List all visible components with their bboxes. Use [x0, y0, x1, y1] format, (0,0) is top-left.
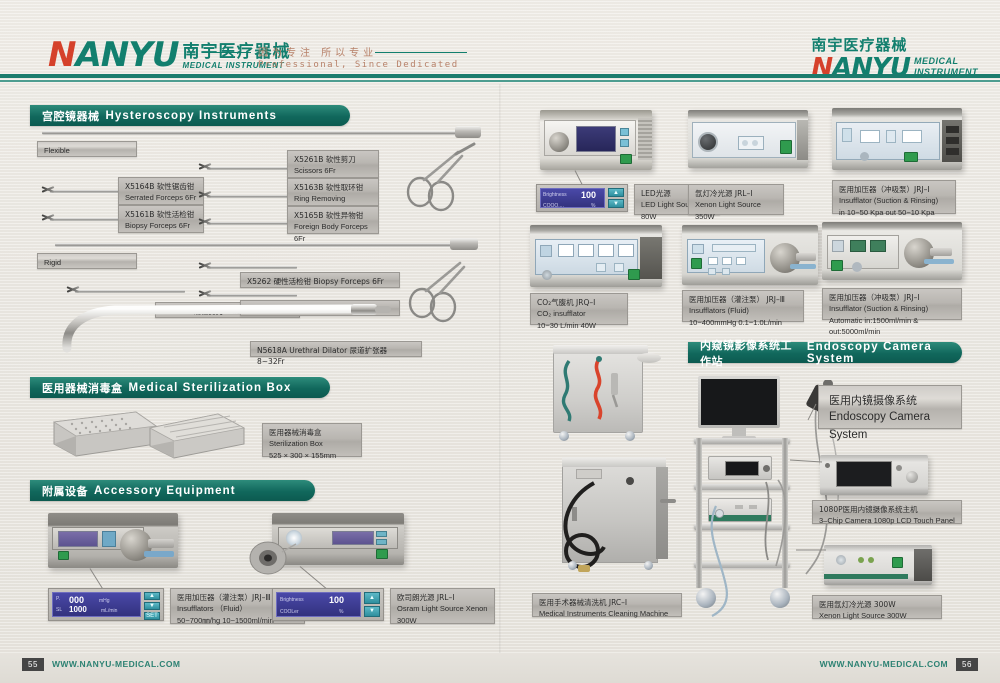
instrument-shaft-scissors	[207, 167, 289, 170]
ring-forceps-graphic-bottom	[400, 255, 480, 325]
banner-hysteroscopy-cn: 宫腔镜器械	[42, 108, 100, 124]
banner-camera-system-en: Endoscopy Camera System	[807, 341, 962, 365]
device-cleaning-machine	[552, 455, 680, 575]
label-x5261b-cn: X5261B 软性剪刀	[294, 154, 372, 165]
instrument-shaft-foreign	[207, 222, 289, 225]
label-x5164b-cn: X5164B 软性锯齿钳	[125, 181, 197, 192]
label-sterilization-box-size: 525 × 300 × 155mm	[269, 450, 355, 461]
label-insufflator-suction-1-spec: in 10~50 Kpa out 50~10 Kpa	[839, 207, 949, 218]
group-label-flexible-text: Flexible	[44, 145, 130, 156]
lcd-label-brightness-led: Brightness	[543, 192, 567, 198]
footer-url-right[interactable]: WWW.NANYU-MEDICAL.COM	[820, 659, 948, 669]
key-down-led[interactable]: ▼	[608, 199, 624, 208]
label-insufflator-suction-1-en: Insufflator (Suction & Rinsing)	[839, 195, 949, 206]
banner-accessory: 附属设备 Accessory Equipment	[30, 480, 315, 501]
lcd-unit-sl: mL/min	[101, 608, 117, 614]
light-guide-port-graphic	[248, 540, 298, 576]
key-up-osram[interactable]: ▲	[364, 592, 380, 604]
label-cleaning-machine: 医用手术器械清洗机 JRC–Ⅰ Medical Instruments Clea…	[532, 593, 682, 617]
device-led-light-source	[540, 110, 652, 170]
cleaning-machine-hose	[552, 481, 632, 575]
banner-sterilization: 医用器械消毒盒 Medical Sterilization Box	[30, 377, 330, 398]
readout-insufflator-fluid: P. 000 mHg SL 1000 mL/min ▲ ▼ SET	[48, 588, 164, 621]
label-osram-cn: 欧司朗光源 JRL–Ⅰ	[397, 592, 488, 603]
label-co2-en: CO₂ insufflator	[537, 308, 621, 319]
label-x5262-text: X5262 硬性活检钳 Biopsy Forceps 6Fr	[247, 276, 393, 287]
slogan-rule-right	[375, 52, 467, 53]
header-divider-thick	[0, 74, 1000, 78]
lcd-value-sl: 1000	[69, 605, 87, 614]
label-insufflator-fluid-right-spec: 10~400mmHg 0.1~1.0L/min	[689, 317, 797, 328]
label-insufflator-suction-1-cn: 医用加压器（冲吸泵）JRJ–Ⅰ	[839, 184, 949, 195]
instrument-shaft-rigid-biopsy1	[207, 266, 297, 269]
lcd-value-brightness-osram: 100	[329, 595, 344, 605]
logo-right-chinese: 南宇医疗器械	[811, 34, 978, 55]
lcd-label-cooler-osram: COOLer	[280, 609, 299, 615]
label-xenon: 氙灯冷光源 JRL–Ⅰ Xenon Light Source 350W	[688, 184, 784, 215]
readout-keys-insufflator-fluid[interactable]: ▲ ▼ SET	[144, 592, 160, 617]
label-insufflator-fluid-right-cn: 医用加压器（灌注泵） JRJ–Ⅲ	[689, 294, 797, 305]
ring-forceps-graphic-top	[398, 142, 478, 212]
key-set-insufflator[interactable]: SET	[144, 612, 160, 620]
sterilization-box-plain	[140, 408, 250, 466]
right-page-leader-lines	[760, 400, 1000, 620]
lcd-led: Brightness 100 COOO.... %	[540, 188, 605, 208]
catalog-page: NANYU 南宇医疗器械 MEDICAL INSTRUMENT 因为专注 所以专…	[0, 0, 1000, 683]
device-cleaning-cart	[545, 345, 655, 445]
banner-sterilization-en: Medical Sterilization Box	[129, 382, 292, 394]
device-insufflator-suction-1	[832, 108, 962, 170]
label-x5165b: X5165B 软性异物钳 Foreign Body Forceps 6Fr	[287, 206, 379, 234]
slogan-rule-left	[215, 52, 251, 53]
banner-camera-system-cn: 内窥镜影像系统工作站	[700, 337, 801, 369]
header-divider-thin	[0, 80, 1000, 82]
trolley-caster-left	[696, 588, 716, 608]
instrument-shaft-rigid-biopsy2	[207, 294, 297, 297]
key-up-led[interactable]: ▲	[608, 188, 624, 197]
label-x5161b-en: Biopsy Forceps 6Fr	[125, 220, 197, 231]
rigid-scope-rod	[55, 243, 455, 247]
label-osram-spec: 300W	[397, 615, 488, 626]
footer-right: WWW.NANYU-MEDICAL.COM 56	[500, 653, 1000, 683]
instrument-shaft-rigid-scissors	[75, 290, 185, 293]
banner-camera-system: 内窥镜影像系统工作站 Endoscopy Camera System	[688, 342, 962, 363]
logo-left: NANYU 南宇医疗器械 MEDICAL INSTRUMENT	[48, 38, 290, 72]
label-x5163b-cn: X5163B 软性取环钳	[294, 182, 372, 193]
label-x5261b-en: Scissors 6Fr	[294, 165, 372, 176]
lcd-label-p: P.	[56, 596, 60, 602]
readout-keys-led[interactable]: ▲ ▼	[608, 188, 624, 208]
page-spine	[499, 84, 501, 654]
lcd-insufflator-fluid: P. 000 mHg SL 1000 mL/min	[52, 592, 141, 617]
label-insufflator-suction-2: 医用加压器（冲吸泵）JRJ–Ⅰ Insufflator (Suction & R…	[822, 288, 962, 320]
label-dilator-text: N5618A Urethral Dilator 尿道扩张器 8~32Fr	[257, 345, 415, 368]
label-x5161b-cn: X5161B 软性活检钳	[125, 209, 197, 220]
label-x5165b-en: Foreign Body Forceps 6Fr	[294, 221, 372, 244]
flexible-scope-handle	[455, 126, 481, 138]
key-down-insufflator[interactable]: ▼	[144, 602, 160, 610]
label-osram-en: Osram Light Source Xenon	[397, 603, 488, 614]
footer-url-left[interactable]: WWW.NANYU-MEDICAL.COM	[52, 659, 180, 669]
lcd-unit-led: %	[591, 203, 595, 209]
slogan-english: Professional, Since Dedicated	[258, 60, 558, 70]
label-insufflator-suction-2-spec: Automatic in:1500ml/min & out:5000ml/min	[829, 315, 955, 338]
page-header: NANYU 南宇医疗器械 MEDICAL INSTRUMENT 因为专注 所以专…	[0, 0, 1000, 80]
device-insufflator-suction-2	[822, 222, 962, 280]
lcd-sub-led: COOO....	[543, 203, 564, 209]
device-insufflator-fluid	[48, 513, 178, 568]
cleaning-hoses-graphic	[555, 355, 645, 433]
lcd-unit-p: mHg	[99, 598, 110, 604]
key-up-insufflator[interactable]: ▲	[144, 592, 160, 600]
readout-keys-osram[interactable]: ▲ ▼	[364, 592, 380, 617]
lcd-label-brightness-osram: Brightness	[280, 597, 304, 603]
label-sterilization-box-cn: 医用器械消毒盒	[269, 427, 355, 438]
banner-hysteroscopy: 宫腔镜器械 Hysteroscopy Instruments	[30, 105, 350, 126]
lcd-unit-osram: %	[339, 609, 343, 615]
label-insufflator-suction-1: 医用加压器（冲吸泵）JRJ–Ⅰ Insufflator (Suction & R…	[832, 180, 956, 214]
lcd-label-sl: SL	[56, 607, 62, 613]
label-cleaning-machine-cn: 医用手术器械清洗机 JRC–Ⅰ	[539, 597, 675, 608]
label-x5261b: X5261B 软性剪刀 Scissors 6Fr	[287, 150, 379, 178]
label-insufflator-suction-2-en: Insufflator (Suction & Rinsing)	[829, 303, 955, 314]
label-insufflator-fluid-right: 医用加压器（灌注泵） JRJ–Ⅲ Insufflators (Fluid) 10…	[682, 290, 804, 322]
label-co2: CO₂气腹机 JRQ–Ⅰ CO₂ insufflator 10~30 L/min…	[530, 293, 628, 325]
monitor-stand	[732, 428, 746, 436]
label-sterilization-box: 医用器械消毒盒 Sterilization Box 525 × 300 × 15…	[262, 423, 362, 457]
label-dilator: N5618A Urethral Dilator 尿道扩张器 8~32Fr	[250, 341, 422, 357]
logo-wordmark: NANYU	[48, 38, 178, 72]
label-osram: 欧司朗光源 JRL–Ⅰ Osram Light Source Xenon 300…	[390, 588, 495, 624]
page-number-left: 55	[22, 658, 44, 671]
slogan-block: 因为专注 所以专业 Professional, Since Dedicated	[258, 44, 558, 70]
footer-left: 55 WWW.NANYU-MEDICAL.COM	[0, 653, 500, 683]
label-co2-spec: 10~30 L/min 40W	[537, 320, 621, 331]
lcd-osram: Brightness 100 COOLer %	[276, 592, 361, 617]
label-xenon-spec: 350W	[695, 211, 777, 222]
label-x5262: X5262 硬性活检钳 Biopsy Forceps 6Fr	[240, 272, 400, 288]
device-co2-insufflator	[530, 225, 662, 287]
label-xenon-en: Xenon Light Source	[695, 199, 777, 210]
group-label-rigid: Rigid	[37, 253, 137, 269]
label-insufflator-fluid-right-en: Insufflators (Fluid)	[689, 305, 797, 316]
key-down-osram[interactable]: ▼	[364, 606, 380, 618]
label-xenon-cn: 氙灯冷光源 JRL–Ⅰ	[695, 188, 777, 199]
page-number-right: 56	[956, 658, 978, 671]
label-x5161b: X5161B 软性活检钳 Biopsy Forceps 6Fr	[118, 205, 204, 233]
banner-accessory-cn: 附属设备	[42, 483, 88, 499]
readout-osram: Brightness 100 COOLer % ▲ ▼	[272, 588, 384, 621]
lcd-value-brightness-led: 100	[581, 190, 596, 200]
logo-right-sub1: MEDICAL	[914, 56, 978, 67]
lcd-value-p: 000	[69, 595, 84, 605]
label-sterilization-box-en: Sterilization Box	[269, 438, 355, 449]
device-insufflator-fluid-right	[682, 225, 818, 285]
label-insufflator-suction-2-cn: 医用加压器（冲吸泵）JRJ–Ⅰ	[829, 292, 955, 303]
banner-hysteroscopy-en: Hysteroscopy Instruments	[106, 110, 277, 122]
label-x5163b: X5163B 软性取环钳 Ring Removing Forceps 6Fr	[287, 178, 379, 206]
label-cleaning-machine-en: Medical Instruments Cleaning Machine	[539, 608, 675, 619]
group-label-flexible: Flexible	[37, 141, 137, 157]
label-x5165b-cn: X5165B 软性异物钳	[294, 210, 372, 221]
device-xenon-light-source	[688, 110, 808, 168]
banner-sterilization-cn: 医用器械消毒盒	[42, 380, 123, 396]
rigid-scope-handle	[450, 238, 478, 250]
label-x5164b-en: Serrated Forceps 6Fr	[125, 192, 197, 203]
readout-led: Brightness 100 COOO.... % ▲ ▼	[536, 184, 628, 212]
flexible-scope-rod	[42, 131, 460, 135]
group-label-rigid-text: Rigid	[44, 257, 130, 268]
label-x5164b: X5164B 软性锯齿钳 Serrated Forceps 6Fr	[118, 177, 204, 205]
label-co2-cn: CO₂气腹机 JRQ–Ⅰ	[537, 297, 621, 308]
instrument-shaft-ring	[207, 195, 289, 198]
banner-accessory-en: Accessory Equipment	[94, 485, 236, 497]
